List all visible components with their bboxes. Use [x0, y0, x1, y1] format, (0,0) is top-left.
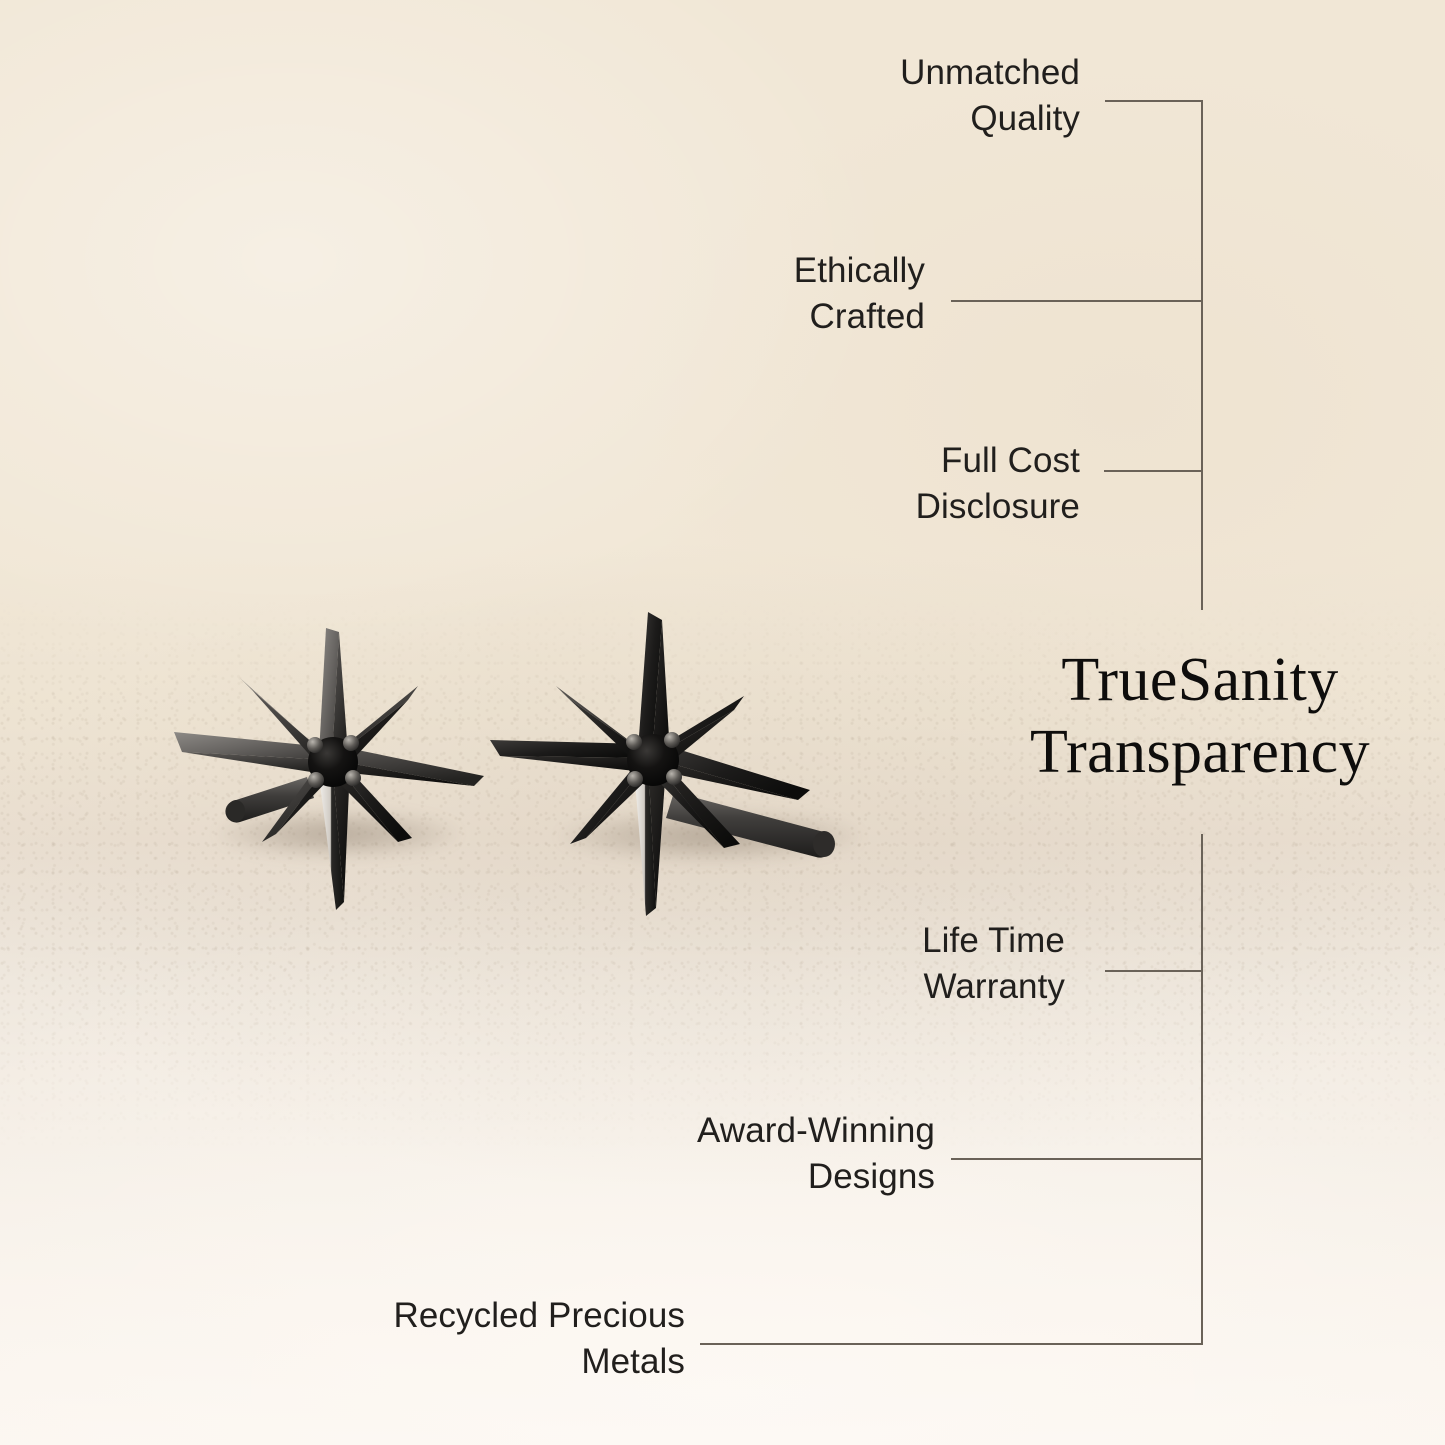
callout-label-unmatched-quality: Unmatched Quality: [745, 50, 1080, 141]
callout-label-award-winning-designs: Award-Winning Designs: [580, 1108, 935, 1199]
callout-label-life-time-warranty: Life Time Warranty: [730, 918, 1065, 1009]
product-banner: Unmatched Quality Ethically Crafted Full…: [0, 0, 1445, 1445]
connector-ethically-crafted: [951, 300, 1203, 302]
right-earring: [490, 612, 835, 916]
earrings-illustration: [0, 560, 900, 940]
callout-label-recycled-precious-metals: Recycled Precious Metals: [330, 1293, 685, 1384]
connector-full-cost-disclosure: [1104, 470, 1203, 472]
callout-label-full-cost-disclosure: Full Cost Disclosure: [745, 438, 1080, 529]
product-image-star-stud-earrings: [0, 560, 900, 940]
connector-award-winning-designs: [951, 1158, 1203, 1160]
top-connector-spine: [1201, 100, 1203, 610]
connector-unmatched-quality: [1105, 100, 1203, 102]
connector-recycled-precious-metals: [700, 1343, 1203, 1345]
brand-wordmark: TrueSanity Transparency: [1000, 645, 1400, 789]
callout-label-ethically-crafted: Ethically Crafted: [590, 248, 925, 339]
connector-life-time-warranty: [1105, 970, 1203, 972]
bottom-connector-spine: [1201, 834, 1203, 1344]
left-earring: [174, 628, 484, 910]
